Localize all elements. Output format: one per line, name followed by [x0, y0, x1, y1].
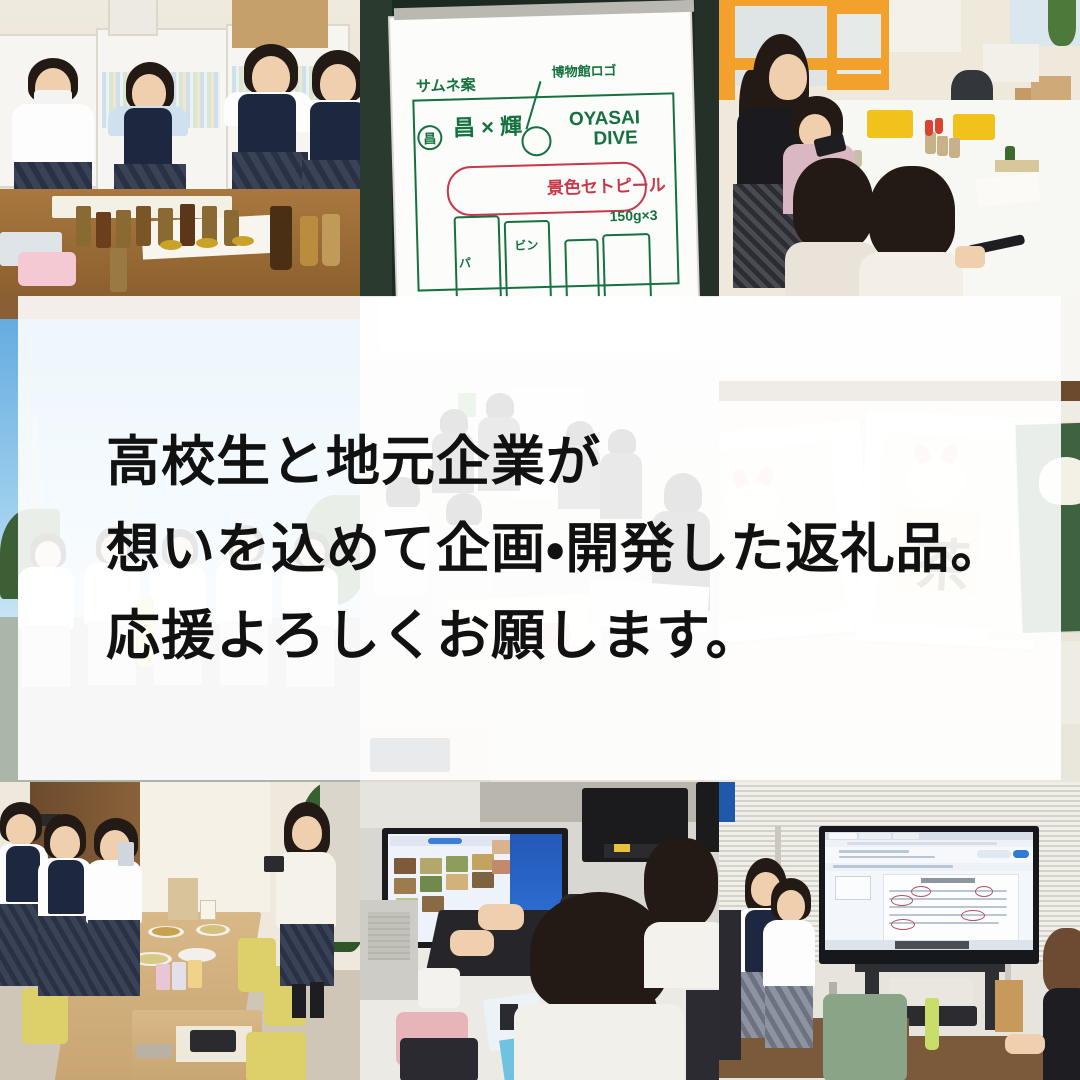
headline-block: 高校生と地元企業が 想いを込めて企画・開発した返礼品。 応援よろしくお願します。	[106, 418, 1006, 679]
headline-line-3: 応援よろしくお願します。	[106, 592, 1006, 679]
collage-photo-bottom-right	[719, 782, 1080, 1080]
poster-root: サムネ案 昌 × 輝 昌 博物館ロゴ OYASAI DIVE 景色セトピール パ…	[0, 0, 1080, 1080]
headline-line-2: 想いを込めて企画・開発した返礼品。	[106, 505, 1006, 592]
collage-photo-top-left	[0, 0, 360, 297]
collage-photo-bottom-left	[0, 782, 360, 1080]
collage-photo-bottom-center	[360, 782, 719, 1080]
collage-photo-top-right	[719, 0, 1080, 297]
headline-line-1: 高校生と地元企業が	[106, 418, 1006, 505]
collage-photo-top-center: サムネ案 昌 × 輝 昌 博物館ロゴ OYASAI DIVE 景色セトピール パ…	[360, 0, 719, 297]
